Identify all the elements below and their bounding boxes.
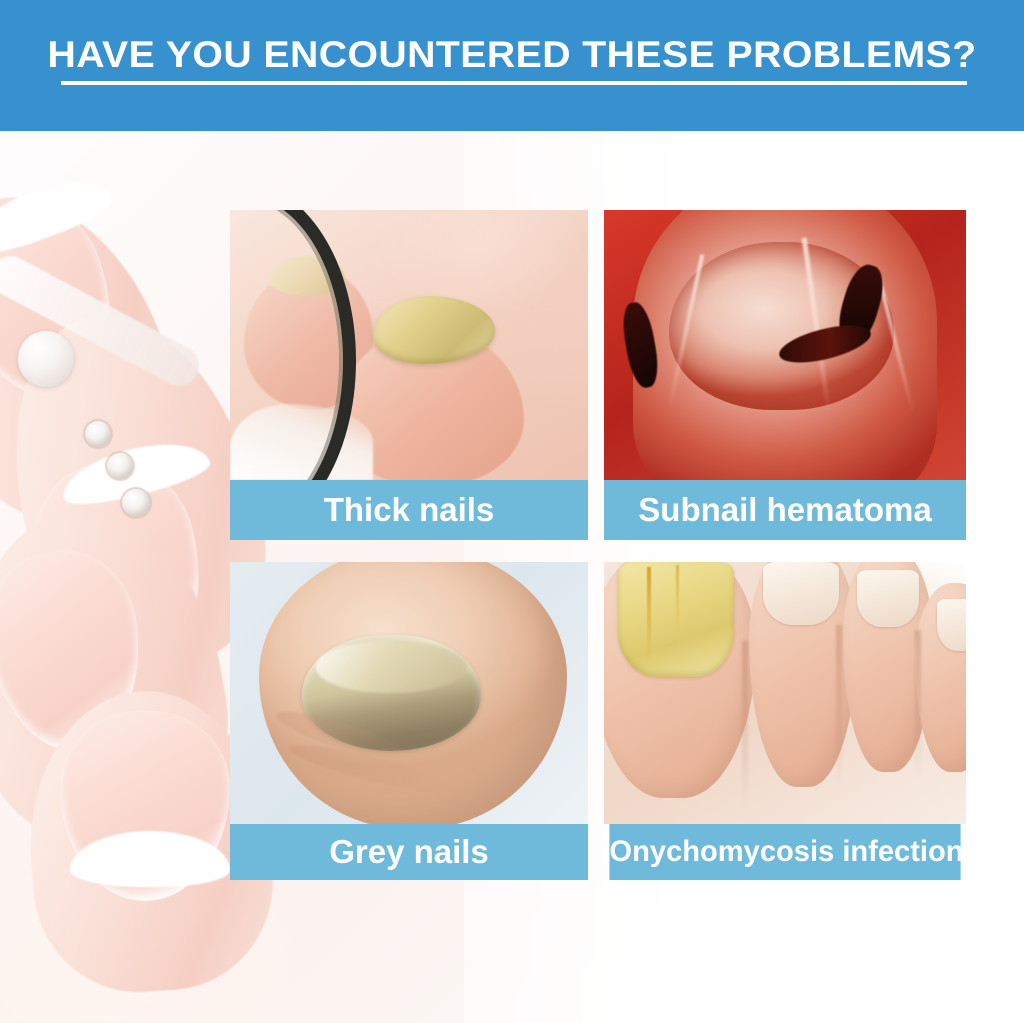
nail-streak: [676, 565, 679, 633]
thick-nails-photo: [230, 210, 588, 480]
nail-streak: [647, 567, 651, 661]
grid-cell-subnail-hematoma[interactable]: Subnail hematoma: [604, 210, 966, 540]
title-underline: [61, 81, 967, 85]
background-pearl: [18, 331, 74, 387]
caption-grey-nails: Grey nails: [230, 824, 588, 880]
page-title: HAVE YOU ENCOUNTERED THESE PROBLEMS?: [0, 34, 1024, 76]
onychomycosis-photo: [604, 562, 966, 824]
toe-crease: [915, 630, 921, 777]
header-banner: HAVE YOU ENCOUNTERED THESE PROBLEMS?: [0, 0, 1024, 131]
toe-crease: [836, 625, 842, 787]
grid-cell-grey-nails[interactable]: Grey nails: [230, 562, 588, 880]
grid-cell-onychomycosis[interactable]: Onychomycosis infection: [604, 562, 966, 880]
caption-thick-nails: Thick nails: [230, 480, 588, 540]
toe-crease: [742, 641, 748, 809]
background-gem: [122, 489, 150, 517]
subnail-hematoma-photo: [604, 210, 966, 480]
background-gem: [85, 421, 111, 447]
caption-subnail-hematoma: Subnail hematoma: [604, 480, 966, 540]
grid-cell-thick-nails[interactable]: Thick nails: [230, 210, 588, 540]
poster-root: HAVE YOU ENCOUNTERED THESE PROBLEMS? Thi…: [0, 0, 1024, 1023]
problem-photo-grid: Thick nails Subnail hematoma: [230, 210, 966, 880]
background-gem: [107, 453, 133, 479]
crumbling-nail-edge: [316, 641, 466, 693]
grey-nails-photo: [230, 562, 588, 824]
normal-nail: [763, 562, 839, 625]
caption-onychomycosis: Onychomycosis infection: [609, 824, 960, 880]
normal-nail: [857, 570, 919, 628]
